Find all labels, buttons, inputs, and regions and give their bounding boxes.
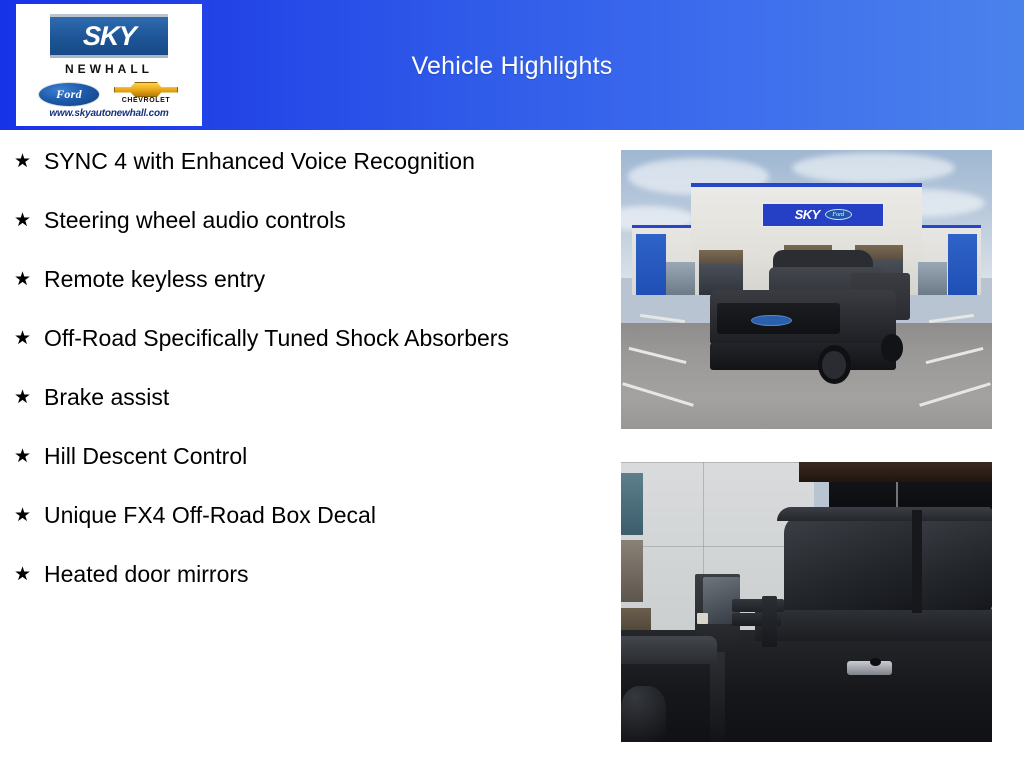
ford-oval-icon: Ford xyxy=(38,82,100,107)
vehicle-front-exterior-photo[interactable]: SKY Ford xyxy=(621,150,992,429)
slide-header: Vehicle Highlights SKY NEWHALL Ford CHEV… xyxy=(0,0,1024,130)
list-item-label: Remote keyless entry xyxy=(44,263,534,296)
slide: Vehicle Highlights SKY NEWHALL Ford CHEV… xyxy=(0,0,1024,768)
vehicle-mirror-detail-photo[interactable] xyxy=(621,462,992,742)
dealership-sign-ford-label: Ford xyxy=(832,212,844,218)
truck-wheel-rim xyxy=(822,351,846,379)
truck-rear-wheel xyxy=(881,334,903,362)
truck-ford-badge-icon xyxy=(751,315,792,327)
dealership-sign-text: SKY xyxy=(795,208,820,221)
truck-front-bumper xyxy=(710,343,896,371)
chevrolet-bowtie-icon xyxy=(114,82,178,97)
list-item: ★ Unique FX4 Off-Road Box Decal xyxy=(0,499,600,532)
list-item: ★ Off-Road Specifically Tuned Shock Abso… xyxy=(0,322,600,355)
star-bullet-icon: ★ xyxy=(14,381,31,414)
list-item: ★ Hill Descent Control xyxy=(0,440,600,473)
list-item: ★ Brake assist xyxy=(0,381,600,414)
list-item-label: Off-Road Specifically Tuned Shock Absorb… xyxy=(44,322,534,355)
truck-roofline xyxy=(777,507,992,521)
vehicle-highlights-list: ★ SYNC 4 with Enhanced Voice Recognition… xyxy=(0,145,600,765)
logo-website-url[interactable]: www.skyautonewhall.com xyxy=(16,108,202,119)
chevrolet-logo: CHEVROLET xyxy=(112,81,180,107)
star-bullet-icon: ★ xyxy=(14,322,31,355)
dealer-logo[interactable]: SKY NEWHALL Ford CHEVROLET www.skyautone… xyxy=(16,4,202,126)
star-bullet-icon: ★ xyxy=(14,263,31,296)
list-item-label: Heated door mirrors xyxy=(44,558,534,591)
list-item-label: Steering wheel audio controls xyxy=(44,204,534,237)
list-item: ★ SYNC 4 with Enhanced Voice Recognition xyxy=(0,145,600,178)
star-bullet-icon: ★ xyxy=(14,440,31,473)
building-glass-panel xyxy=(621,540,643,602)
logo-sky-badge: SKY xyxy=(50,14,168,58)
building-glass-panel xyxy=(621,473,643,535)
star-bullet-icon: ★ xyxy=(14,499,31,532)
chevrolet-label: CHEVROLET xyxy=(112,97,180,104)
truck-door-window xyxy=(784,515,918,610)
dealership-sign: SKY Ford xyxy=(762,203,884,227)
truck-cab-step xyxy=(710,652,725,742)
blue-accent-panel xyxy=(636,234,666,295)
building-window xyxy=(918,262,948,295)
list-item: ★ Remote keyless entry xyxy=(0,263,600,296)
logo-location-text: NEWHALL xyxy=(16,62,202,76)
list-item: ★ Steering wheel audio controls xyxy=(0,204,600,237)
truck-rear-window xyxy=(918,507,992,611)
star-bullet-icon: ★ xyxy=(14,558,31,591)
mirror-mount xyxy=(762,596,777,646)
list-item-label: Hill Descent Control xyxy=(44,440,534,473)
truck-wheel-arch xyxy=(621,686,666,742)
building-eave-shadow xyxy=(799,462,992,482)
dealership-sign-ford-oval-icon: Ford xyxy=(825,209,852,220)
logo-sky-text: SKY xyxy=(82,23,135,50)
truck-beltline xyxy=(755,608,992,642)
ford-oval-label: Ford xyxy=(56,87,82,102)
star-bullet-icon: ★ xyxy=(14,204,31,237)
mirror-turn-signal-icon xyxy=(697,613,708,624)
blue-accent-panel xyxy=(948,234,978,295)
list-item: ★ Heated door mirrors xyxy=(0,558,600,591)
list-item-label: Unique FX4 Off-Road Box Decal xyxy=(44,499,534,532)
list-item-label: Brake assist xyxy=(44,381,534,414)
star-bullet-icon: ★ xyxy=(14,145,31,178)
logo-brand-row: Ford CHEVROLET xyxy=(16,80,202,108)
list-item-label: SYNC 4 with Enhanced Voice Recognition xyxy=(44,145,534,178)
truck-fender xyxy=(621,636,717,664)
truck-b-pillar xyxy=(912,510,921,614)
building-entry-awning xyxy=(699,250,744,264)
building-window xyxy=(666,262,696,295)
